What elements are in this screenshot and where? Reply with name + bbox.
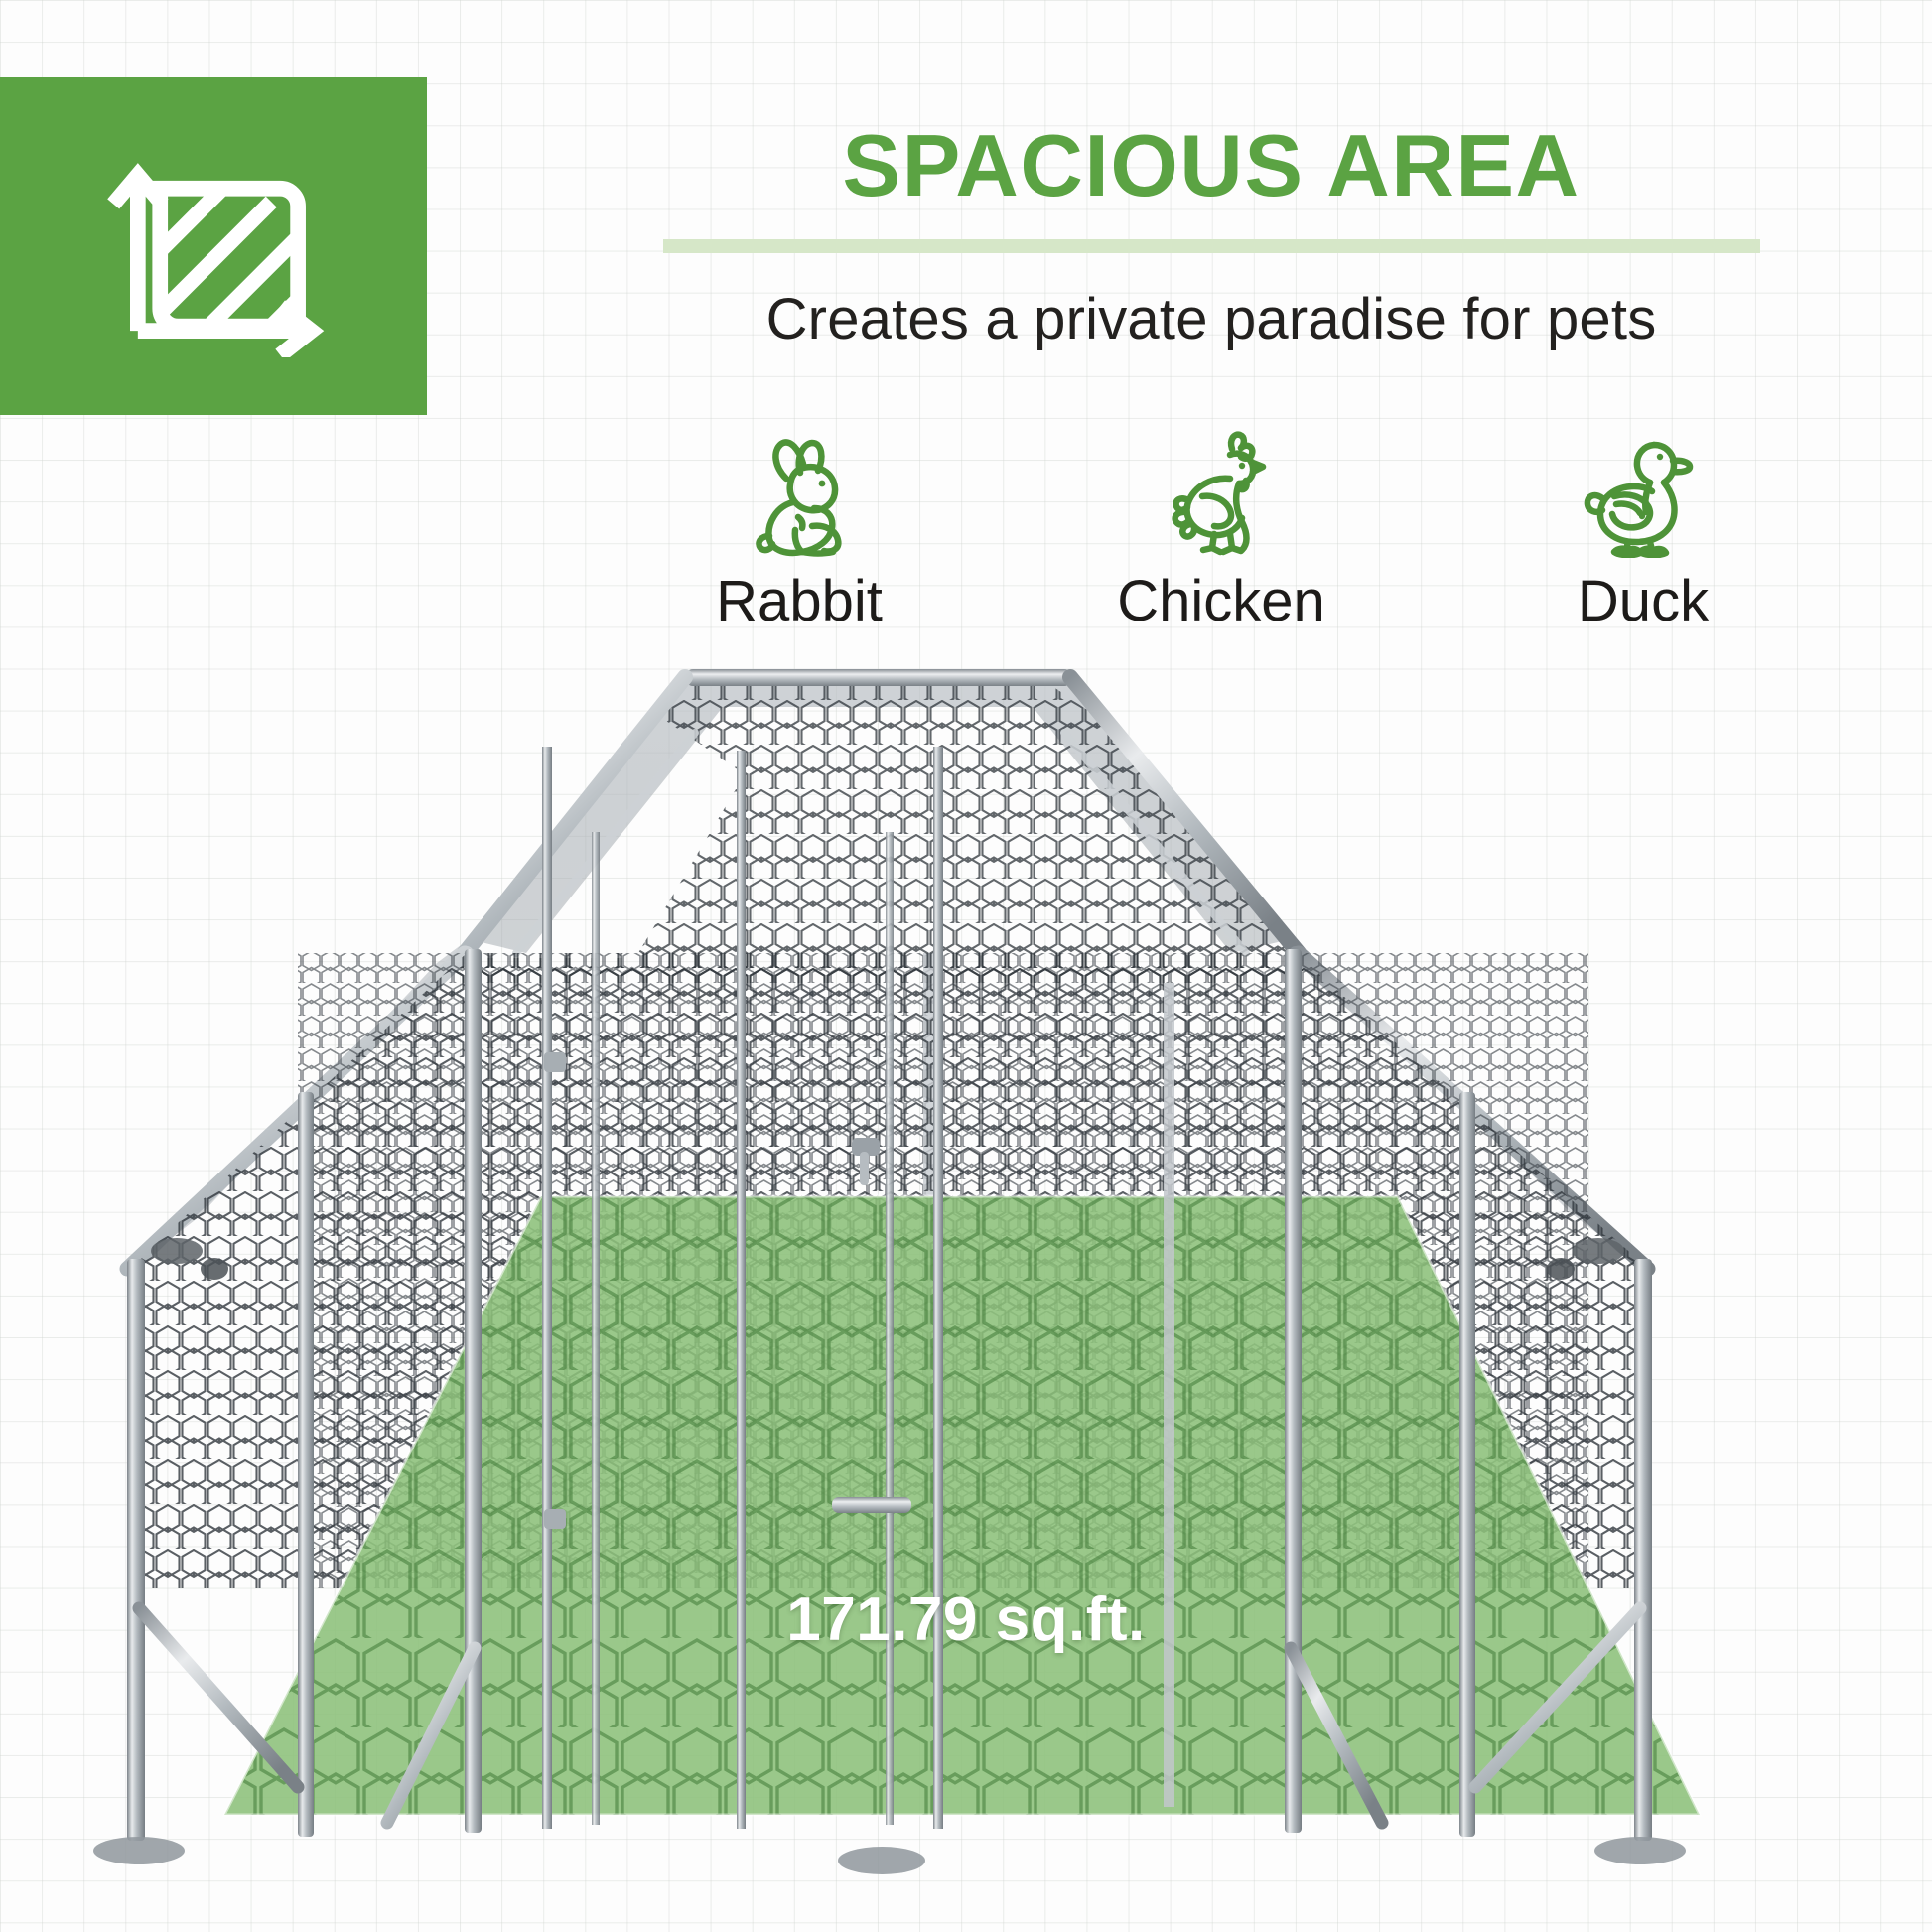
product-image-chicken-coop (0, 655, 1932, 1932)
animal-item-rabbit: Rabbit (635, 427, 963, 633)
duck-icon (1581, 427, 1706, 558)
animal-item-duck: Duck (1479, 427, 1807, 633)
area-expand-icon (102, 135, 325, 357)
feature-badge (0, 77, 427, 415)
page-title: SPACIOUS AREA (556, 119, 1866, 211)
infographic-page: SPACIOUS AREA Creates a private paradise… (0, 0, 1932, 1932)
chicken-icon (1163, 427, 1280, 558)
animal-item-chicken: Chicken (1057, 427, 1385, 633)
animal-label: Rabbit (716, 570, 883, 633)
page-subtitle: Creates a private paradise for pets (556, 287, 1866, 353)
coop-base (93, 1833, 1686, 1874)
animal-label: Chicken (1117, 570, 1325, 633)
header-block: SPACIOUS AREA Creates a private paradise… (556, 119, 1866, 353)
header-divider (663, 239, 1760, 253)
suitable-animals-row: Rabbit (635, 427, 1807, 633)
rabbit-icon (741, 427, 858, 558)
animal-label: Duck (1578, 570, 1709, 633)
